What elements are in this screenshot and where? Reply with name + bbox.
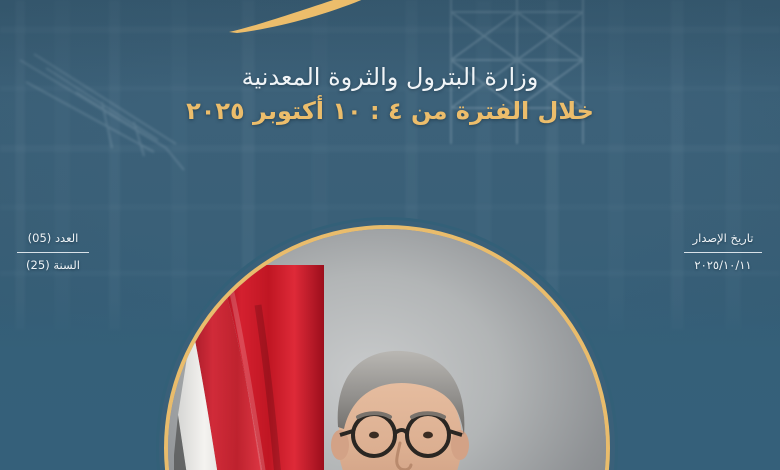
minister-portrait [168,229,606,470]
issue-meta-block: العدد (05) السنة (25) [14,231,92,273]
release-meta-block: تاريخ الإصدار ٢٠٢٥/١٠/١١ [680,231,766,273]
period-subtitle: خلال الفترة من ٤ : ١٠ أكتوبر ٢٠٢٥ [0,96,780,126]
minister-figure [168,229,606,470]
release-date-label: تاريخ الإصدار [680,231,766,247]
headline-block: وزارة البترول والثروة المعدنية خلال الفت… [0,62,780,126]
issue-year-label: السنة (25) [14,258,92,274]
release-meta-divider [684,252,762,253]
issue-meta-divider [17,252,89,253]
issue-number-label: العدد (05) [14,231,92,247]
newsletter-cover: وزارة البترول والثروة المعدنية خلال الفت… [0,0,780,470]
ministry-title: وزارة البترول والثروة المعدنية [0,62,780,92]
release-date-value: ٢٠٢٥/١٠/١١ [680,258,766,274]
